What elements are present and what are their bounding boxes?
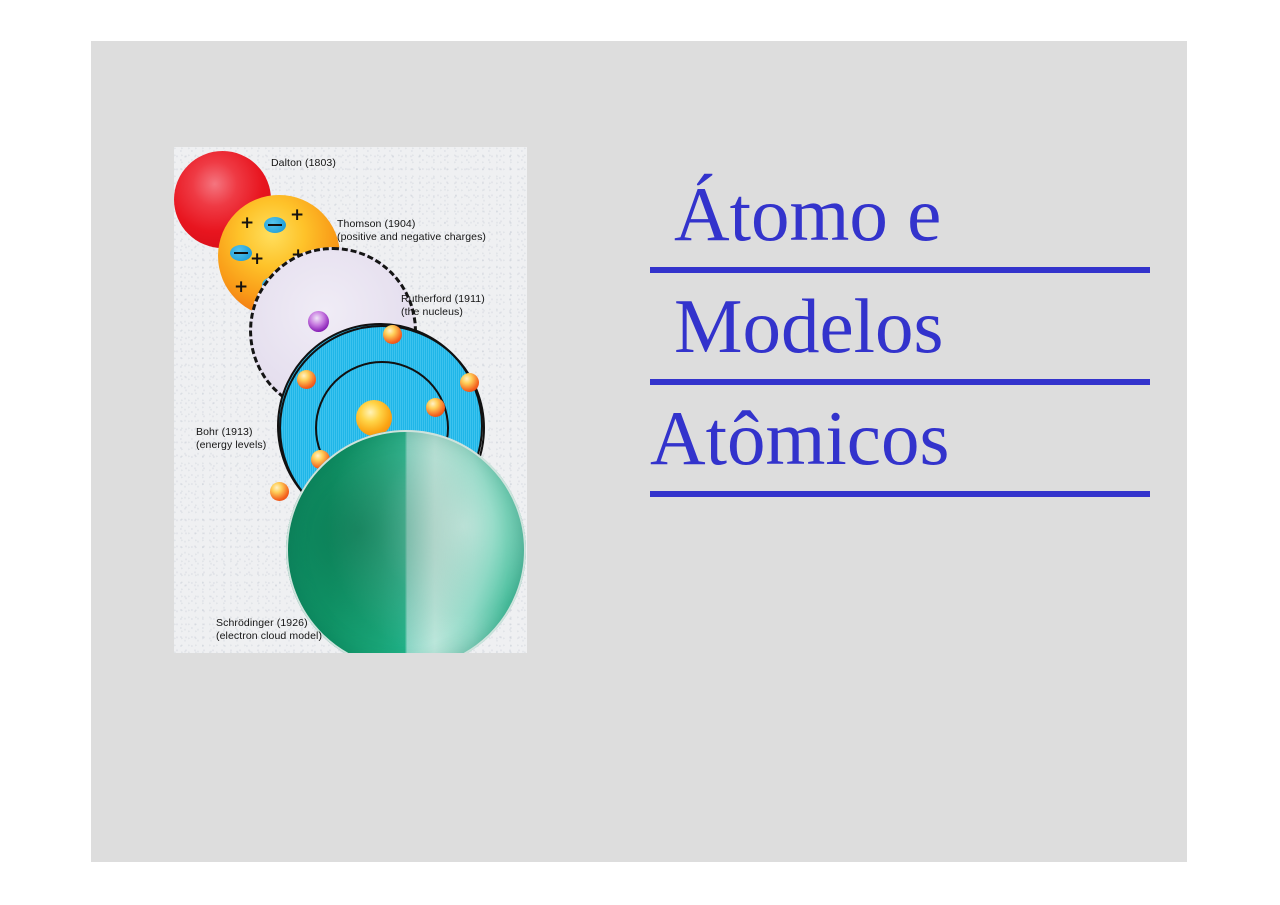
bohr-electron-icon	[270, 482, 289, 501]
bohr-electron-icon	[426, 398, 445, 417]
figure-label-schrodinger: Schrödinger (1926) (electron cloud model…	[216, 617, 322, 642]
thomson-plus-icon: +	[250, 251, 264, 268]
figure-label-thomson: Thomson (1904) (positive and negative ch…	[337, 218, 486, 243]
bohr-electron-icon	[297, 370, 316, 389]
figure-label-bohr: Bohr (1913) (energy levels)	[196, 426, 266, 451]
thomson-plus-icon: +	[290, 207, 304, 224]
slide-canvas: + + + + +	[91, 41, 1187, 862]
thomson-minus-icon	[264, 217, 286, 233]
rutherford-nucleus-icon	[308, 311, 329, 332]
slide-title[interactable]: Átomo e Modelos Atômicos	[650, 161, 1150, 497]
figure-label-dalton: Dalton (1803)	[271, 157, 336, 170]
thomson-plus-icon: +	[234, 279, 248, 296]
bohr-electron-icon	[460, 373, 479, 392]
thomson-minus-icon	[230, 245, 252, 261]
slide-title-line-1: Átomo e	[650, 161, 1150, 273]
slide-title-line-3: Atômicos	[650, 385, 1150, 497]
slide-title-line-2: Modelos	[650, 273, 1150, 385]
thomson-plus-icon: +	[240, 215, 254, 232]
bohr-electron-icon	[383, 325, 402, 344]
page-root: + + + + +	[0, 0, 1280, 905]
figure-label-rutherford: Rutherford (1911) (the nucleus)	[401, 293, 485, 318]
atomic-models-figure[interactable]: + + + + +	[174, 147, 527, 653]
